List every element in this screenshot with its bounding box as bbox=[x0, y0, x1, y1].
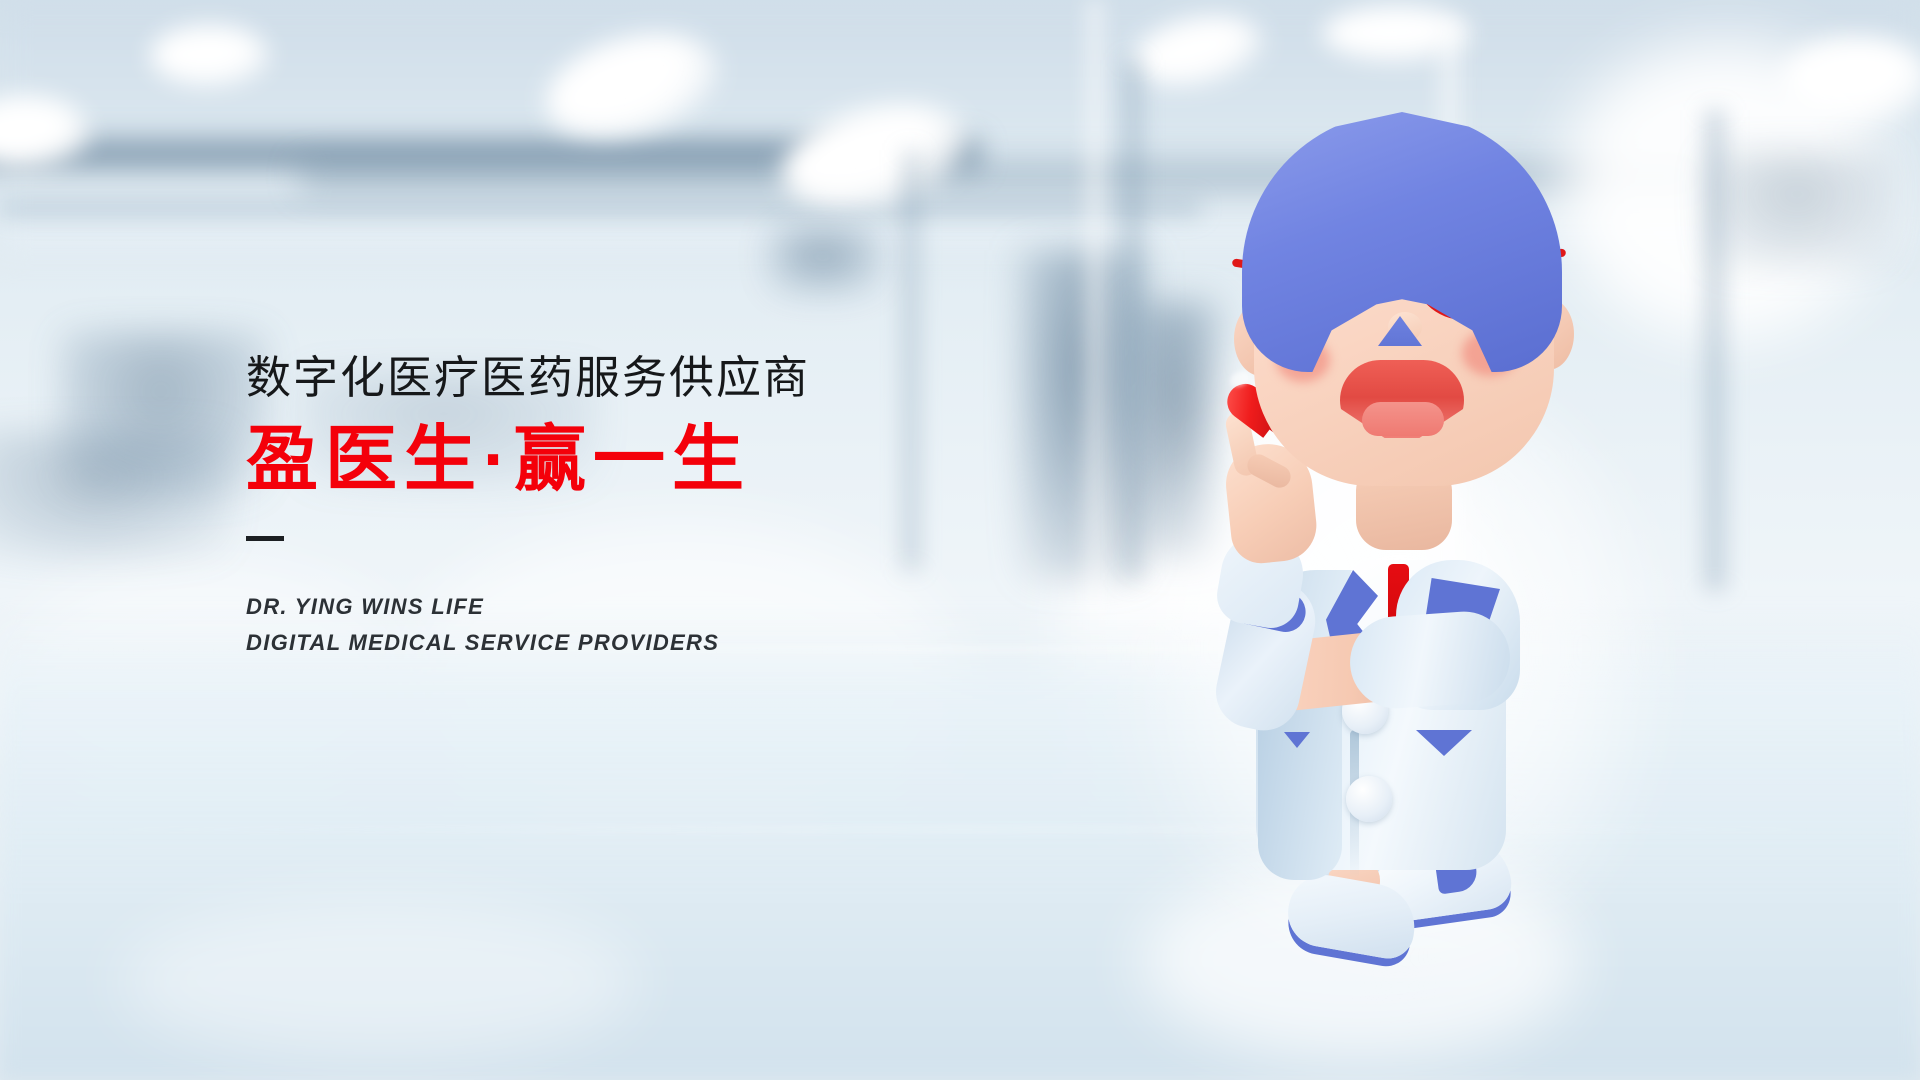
mascot-coat-button-bottom bbox=[1346, 776, 1392, 822]
page-subheadline: 数字化医疗医药服务供应商 bbox=[246, 355, 1006, 400]
hero-banner: 数字化医疗医药服务供应商 盈医生·赢一生 DR. YING WINS LIFE … bbox=[0, 0, 1920, 1080]
ceiling-light-bokeh bbox=[150, 25, 270, 87]
floor-reflection bbox=[120, 900, 640, 1060]
mascot-tongue bbox=[1362, 402, 1444, 436]
background-furniture bbox=[0, 430, 230, 560]
mascot-coat-accent-left bbox=[1284, 732, 1310, 748]
english-subtitle-line-2: DIGITAL MEDICAL SERVICE PROVIDERS bbox=[246, 625, 1006, 661]
mascot-sleeve-crossed bbox=[1347, 609, 1513, 712]
ceiling-beam-lower bbox=[0, 196, 1200, 220]
glass-partition-edge bbox=[1700, 110, 1730, 590]
glass-partition-highlight bbox=[1078, 0, 1112, 620]
mascot-coat-pocket bbox=[1416, 730, 1472, 756]
title-divider-rule bbox=[246, 536, 284, 541]
english-subtitle-block: DR. YING WINS LIFE DIGITAL MEDICAL SERVI… bbox=[246, 589, 1006, 660]
glass-partition-edge bbox=[1120, 60, 1146, 580]
doctor-mascot bbox=[1200, 40, 1630, 1050]
background-sign bbox=[770, 228, 880, 294]
page-title: 盈医生·赢一生 bbox=[246, 422, 1006, 498]
hero-copy-block: 数字化医疗医药服务供应商 盈医生·赢一生 DR. YING WINS LIFE … bbox=[246, 355, 1006, 661]
english-subtitle-line-1: DR. YING WINS LIFE bbox=[246, 589, 1006, 625]
background-doorframe bbox=[1706, 150, 1896, 270]
